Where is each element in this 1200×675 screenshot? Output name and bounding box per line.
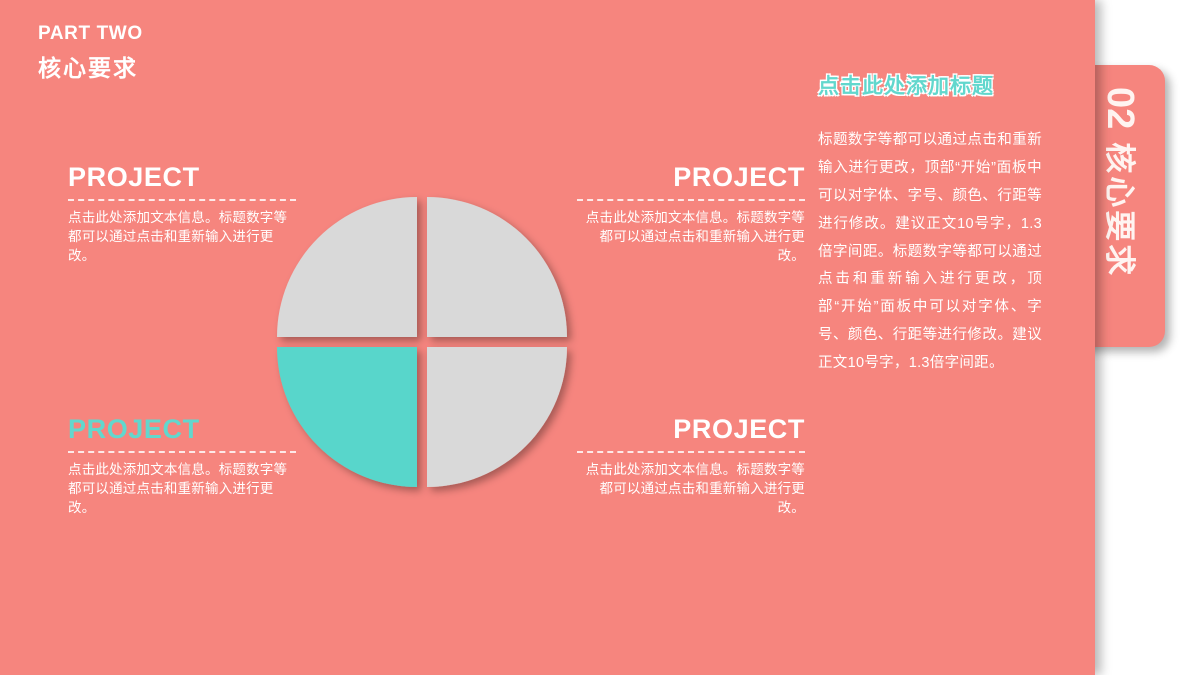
pie-slice-bottom-left[interactable]	[277, 347, 417, 487]
section-tab-title: 核心要求	[1105, 142, 1136, 278]
quadrant-title-top-right: PROJECT	[577, 163, 805, 193]
quadrant-body-bottom-left: 点击此处添加文本信息。标题数字等都可以通过点击和重新输入进行更改。	[68, 460, 296, 517]
quadrant-body-top-right: 点击此处添加文本信息。标题数字等都可以通过点击和重新输入进行更改。	[577, 208, 805, 265]
quadrant-body-top-left: 点击此处添加文本信息。标题数字等都可以通过点击和重新输入进行更改。	[68, 208, 296, 265]
pie-slice-top-right[interactable]	[427, 197, 567, 337]
divider-bottom-right	[577, 451, 805, 453]
quadrant-title-bottom-left: PROJECT	[68, 415, 296, 445]
quadrant-title-bottom-right: PROJECT	[577, 415, 805, 445]
divider-bottom-left	[68, 451, 296, 453]
right-column: 点击此处添加标题 标题数字等都可以通过点击和重新输入进行更改，顶部“开始”面板中…	[818, 74, 1042, 378]
quadrant-body-bottom-right: 点击此处添加文本信息。标题数字等都可以通过点击和重新输入进行更改。	[577, 460, 805, 517]
slide-canvas: 02 核心要求 PART TWO 核心要求 PROJECT	[0, 0, 1200, 675]
right-column-body: 标题数字等都可以通过点击和重新输入进行更改，顶部“开始”面板中可以对字体、字号、…	[818, 127, 1042, 377]
divider-top-right	[577, 199, 805, 201]
quadrant-block-bottom-right: PROJECT 点击此处添加文本信息。标题数字等都可以通过点击和重新输入进行更改…	[577, 415, 805, 517]
quadrant-pie-chart	[277, 192, 567, 482]
page-title: 核心要求	[38, 55, 143, 83]
quadrant-block-top-right: PROJECT 点击此处添加文本信息。标题数字等都可以通过点击和重新输入进行更改…	[577, 163, 805, 265]
divider-top-left	[68, 199, 296, 201]
section-tab-number: 02	[1101, 87, 1139, 129]
right-column-title: 点击此处添加标题	[818, 74, 1042, 99]
quadrant-title-top-left: PROJECT	[68, 163, 296, 193]
pie-svg	[277, 192, 567, 482]
pie-slice-bottom-right[interactable]	[427, 347, 567, 487]
quadrant-block-bottom-left: PROJECT 点击此处添加文本信息。标题数字等都可以通过点击和重新输入进行更改…	[68, 415, 296, 517]
header-eyebrow: PART TWO	[38, 22, 143, 46]
slide-header: PART TWO 核心要求	[38, 22, 143, 82]
pie-slice-top-left[interactable]	[277, 197, 417, 337]
quadrant-block-top-left: PROJECT 点击此处添加文本信息。标题数字等都可以通过点击和重新输入进行更改…	[68, 163, 296, 265]
